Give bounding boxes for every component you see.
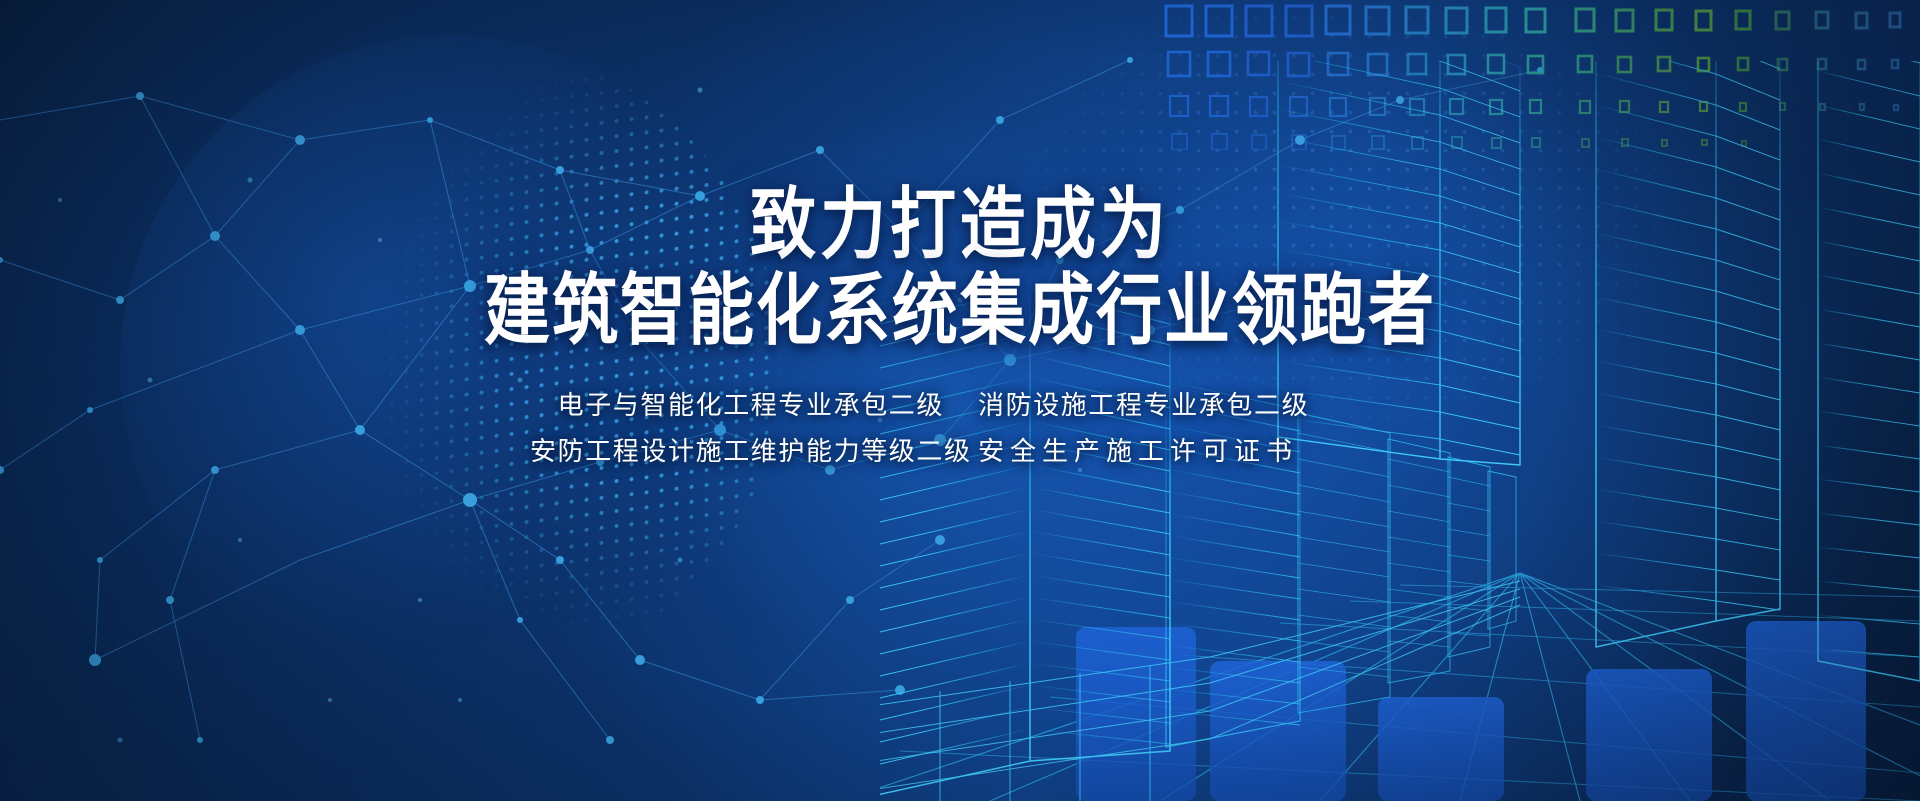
qualification-item-3: 安防工程设计施工维护能力等级二级 <box>530 436 960 469</box>
banner-copy: 致力打造成为 建筑智能化系统集成行业领跑者 电子与智能化工程专业承包二级 消防设… <box>0 186 1920 468</box>
qualification-item-4: 安全生产施工许可证书 <box>960 436 1390 469</box>
headline-line-1: 致力打造成为 <box>0 186 1920 264</box>
qualification-item-1: 电子与智能化工程专业承包二级 <box>530 390 960 423</box>
qualification-list: 电子与智能化工程专业承包二级 消防设施工程专业承包二级 安防工程设计施工维护能力… <box>530 390 1390 468</box>
qualification-item-2: 消防设施工程专业承包二级 <box>960 390 1390 423</box>
hero-banner: 致力打造成为 建筑智能化系统集成行业领跑者 电子与智能化工程专业承包二级 消防设… <box>0 0 1920 801</box>
headline-line-2: 建筑智能化系统集成行业领跑者 <box>0 272 1920 350</box>
